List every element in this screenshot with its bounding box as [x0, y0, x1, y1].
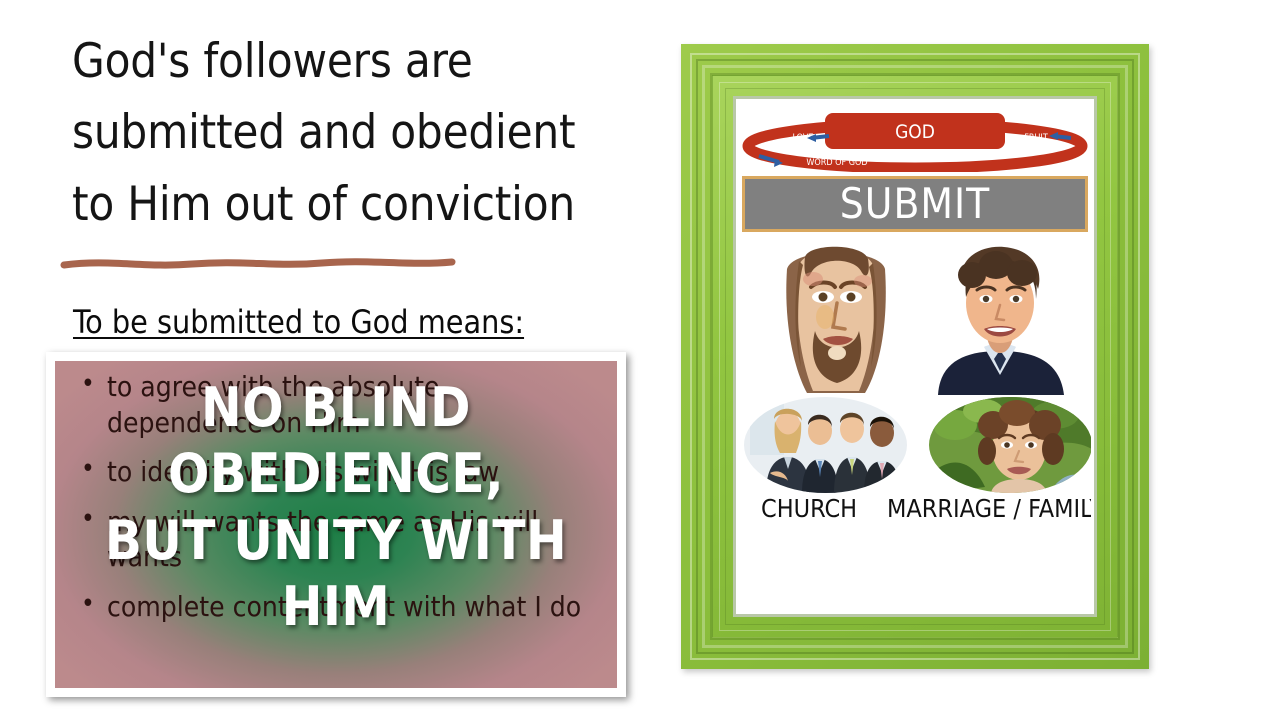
subtitle: To be submitted to God means:: [73, 303, 524, 341]
caption-marriage-family: MARRIAGE / FAMILY: [887, 494, 1091, 523]
submit-banner: SUBMIT: [742, 176, 1088, 232]
title-line-1: God's followers are: [72, 26, 632, 97]
overlay-line-1: NO BLIND: [55, 375, 617, 441]
overlay-headline: NO BLIND OBEDIENCE, BUT UNITY WITH HIM: [55, 375, 617, 641]
callout-box: to agree with the absolute dependence on…: [46, 352, 626, 697]
title-line-3: to Him out of conviction: [72, 169, 632, 240]
overlay-line-3: BUT UNITY WITH: [55, 508, 617, 574]
title-line-2: submitted and obedient: [72, 97, 632, 168]
overlay-line-2: OBEDIENCE,: [55, 441, 617, 507]
man-photo: [918, 235, 1083, 395]
portrait-row: [753, 235, 1083, 395]
submit-label: SUBMIT: [840, 183, 990, 225]
jesus-painting: [753, 235, 918, 395]
woman-photo: [929, 397, 1091, 493]
caption-row: CHURCH MARRIAGE / FAMILY: [739, 494, 1091, 534]
god-cycle-diagram: GOD LOVE FRUIT WORD OF GOD: [741, 110, 1089, 172]
oval-photo-row: [744, 397, 1091, 493]
page-title: God's followers are submitted and obedie…: [72, 26, 632, 240]
diagram-fruit-label: FRUIT: [1024, 133, 1048, 143]
picture-frame: GOD LOVE FRUIT WORD OF GOD: [681, 44, 1149, 669]
overlay-line-4: HIM: [55, 574, 617, 640]
diagram-word-label: WORD OF GOD: [806, 158, 867, 168]
slide-canvas: God's followers are submitted and obedie…: [0, 0, 1280, 720]
frame-artwork: GOD LOVE FRUIT WORD OF GOD: [739, 102, 1091, 611]
church-group-photo: [744, 397, 907, 493]
diagram-center-label: GOD: [895, 121, 935, 143]
caption-church: CHURCH: [761, 494, 857, 523]
wavy-divider-icon: [60, 252, 456, 274]
